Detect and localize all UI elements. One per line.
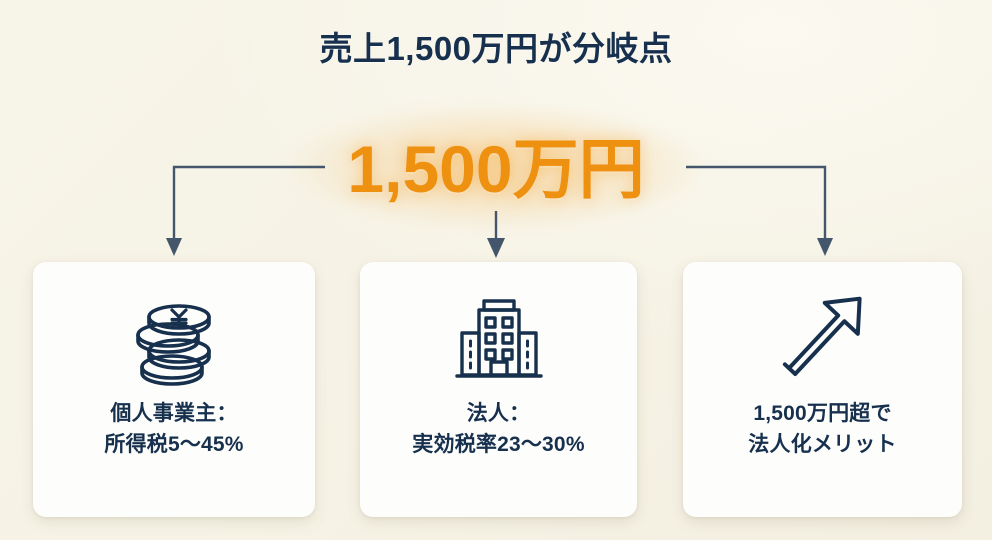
office-building-icon	[360, 284, 637, 394]
card-corporation[interactable]: 法人： 実効税率23〜30%	[360, 262, 637, 517]
card-label-line1: 法人：	[467, 402, 531, 425]
growth-arrow-up-right-icon	[683, 284, 962, 394]
card-label: 個人事業主： 所得税5〜45%	[33, 398, 315, 460]
coin-stack-yen-icon	[33, 284, 315, 394]
threshold-amount-headline: 1,500万円	[0, 131, 992, 207]
card-label-line2: 実効税率23〜30%	[360, 429, 637, 460]
card-label-line2: 法人化メリット	[683, 429, 962, 460]
card-label-line2: 所得税5〜45%	[33, 429, 315, 460]
infographic-canvas: 売上1,500万円が分岐点 1,500万円	[0, 0, 992, 540]
card-incorporation-benefit[interactable]: 1,500万円超で 法人化メリット	[683, 262, 962, 517]
page-title: 売上1,500万円が分岐点	[0, 22, 992, 70]
card-label: 法人： 実効税率23〜30%	[360, 398, 637, 460]
card-sole-proprietor[interactable]: 個人事業主： 所得税5〜45%	[33, 262, 315, 517]
card-label-line1: 1,500万円超で	[753, 402, 891, 425]
card-label: 1,500万円超で 法人化メリット	[683, 398, 962, 460]
card-label-line1: 個人事業主：	[110, 402, 237, 425]
